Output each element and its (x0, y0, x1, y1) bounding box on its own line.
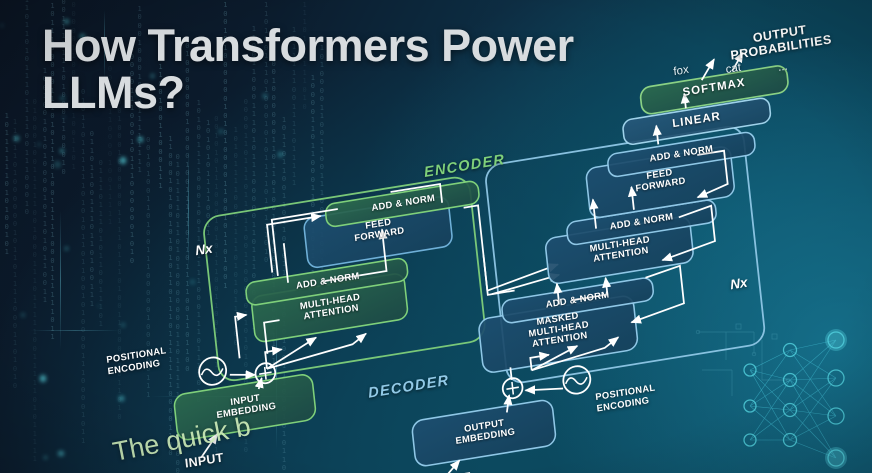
output-token-fox: fox (673, 63, 690, 78)
output-token-cat: cat (725, 61, 742, 76)
transformer-diagram: INPUT EMBEDDING MULTI-HEAD ATTENTION ADD… (0, 0, 872, 473)
slide-canvas: 1 0 1 1 1 1 1 1 0 1 0 1 0 0 1 0 1 1 1 1 … (0, 0, 872, 473)
encoder-repeat-label: Nx (195, 240, 214, 258)
glow-dot (1, 24, 3, 26)
decoder-repeat-label: Nx (729, 274, 748, 292)
output-token-ellipsis: ... (777, 60, 788, 74)
